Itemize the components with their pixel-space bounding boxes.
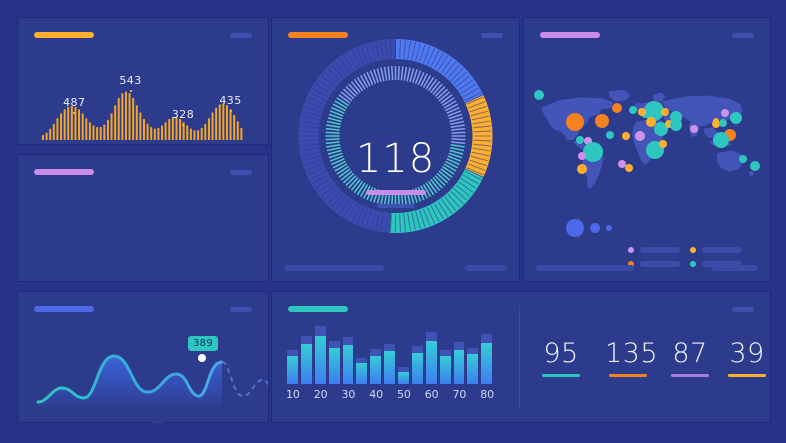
map-bubble[interactable]	[721, 109, 729, 117]
bar-column[interactable]	[301, 336, 312, 384]
bar-segment-top	[454, 342, 465, 350]
bar-axis-tick-label: 30	[341, 388, 355, 401]
map-bubble[interactable]	[595, 114, 609, 128]
map-legend-item[interactable]	[628, 247, 680, 253]
map-legend-color-dot	[690, 261, 696, 267]
panel-wave-histogram[interactable]: 487543328435	[18, 18, 268, 144]
kpi-item[interactable]: 87	[667, 340, 713, 377]
bar-segment-main	[301, 344, 312, 384]
map-bubble[interactable]	[612, 103, 622, 113]
kpi-value: 95	[538, 340, 584, 367]
bar-segment-main	[454, 350, 465, 384]
bar-segment-main	[356, 363, 367, 384]
trend-tooltip: 389	[188, 336, 218, 351]
panel-footer-bar-right-map	[712, 265, 758, 271]
bar-segment-main	[343, 345, 354, 384]
bar-column[interactable]	[481, 334, 492, 384]
bar-column[interactable]	[412, 346, 423, 384]
dashboard-root: 487543328435 389 118	[0, 0, 786, 443]
bar-segment-top	[481, 334, 492, 343]
map-bubble[interactable]	[635, 131, 645, 141]
wave-label-marker	[230, 110, 232, 112]
bar-axis-tick-label: 20	[314, 388, 328, 401]
kpi-item[interactable]: 39	[724, 340, 770, 377]
bar-segment-top	[370, 349, 381, 356]
bar-column[interactable]	[315, 326, 326, 384]
stacked-bar-axis: 1020304050607080	[286, 388, 508, 404]
bar-segment-main	[384, 351, 395, 384]
kpi-value: 87	[667, 340, 713, 367]
bar-column[interactable]	[287, 350, 298, 384]
bar-axis-tick-label: 50	[397, 388, 411, 401]
map-legend-label-placeholder	[640, 247, 680, 253]
bar-column[interactable]	[370, 349, 381, 384]
panel-title-accent-bottom	[288, 306, 348, 312]
bar-segment-main	[398, 372, 409, 384]
bar-segment-top	[412, 346, 423, 353]
panel-pie-charts[interactable]	[18, 155, 268, 281]
wave-label-marker	[130, 90, 132, 92]
trend-area-fill	[38, 356, 222, 410]
map-legend-color-dot	[628, 247, 634, 253]
panel-title-accent-map	[540, 32, 600, 38]
bar-column[interactable]	[356, 358, 367, 384]
bar-segment-top	[426, 332, 437, 341]
map-size-legend-medium	[590, 223, 600, 233]
bar-segment-main	[426, 341, 437, 384]
map-legend-label-placeholder	[640, 261, 680, 267]
panel-divider	[519, 306, 520, 408]
panel-footer-bar-right-donut	[465, 265, 507, 271]
panel-footer-bar-left-donut	[284, 265, 384, 271]
panel-menu-chip-bottom[interactable]	[732, 307, 754, 312]
kpi-underline	[542, 374, 580, 377]
wave-label-marker	[182, 124, 184, 126]
bar-segment-main	[329, 348, 340, 384]
map-legend-label-placeholder	[702, 247, 742, 253]
bar-segment-top	[329, 341, 340, 348]
bar-segment-main	[412, 353, 423, 384]
panel-title-accent-wave	[34, 32, 94, 38]
map-bubble[interactable]	[606, 131, 614, 139]
bar-column[interactable]	[343, 337, 354, 384]
kpi-value: 39	[724, 340, 770, 367]
bar-segment-top	[467, 348, 478, 355]
panel-bars-and-kpis[interactable]: 1020304050607080 951358739	[272, 292, 770, 422]
bar-axis-tick-label: 60	[425, 388, 439, 401]
bar-segment-top	[384, 344, 395, 351]
map-legend-color-dot	[690, 247, 696, 253]
bar-segment-top	[287, 350, 298, 357]
map-bubble[interactable]	[670, 119, 682, 131]
bar-column[interactable]	[426, 332, 437, 384]
map-legend-item[interactable]	[690, 247, 742, 253]
panel-title-accent-line	[34, 306, 94, 312]
panel-footer-bar-left-map	[536, 265, 634, 271]
wave-value-labels: 487543328435	[18, 52, 268, 144]
panel-area-trend[interactable]: 389	[18, 292, 268, 422]
map-bubble[interactable]	[750, 161, 760, 171]
bar-column[interactable]	[440, 350, 451, 384]
map-legend-item[interactable]	[628, 261, 680, 267]
bar-segment-main	[440, 356, 451, 384]
panel-menu-chip-pies[interactable]	[230, 170, 252, 175]
panel-donut-gauge[interactable]: 118	[272, 18, 519, 281]
kpi-underline	[728, 374, 766, 377]
wave-value-label: 543	[119, 74, 141, 87]
bar-axis-tick-label: 80	[480, 388, 494, 401]
bar-segment-top	[343, 337, 354, 345]
bar-segment-top	[315, 326, 326, 336]
wave-value-label: 435	[219, 94, 241, 107]
kpi-underline	[671, 374, 709, 377]
bar-segment-main	[287, 356, 298, 384]
map-bubble[interactable]	[713, 132, 729, 148]
donut-center-value: 118	[272, 136, 519, 182]
kpi-underline	[609, 374, 647, 377]
bar-column[interactable]	[329, 341, 340, 384]
wave-label-marker	[73, 112, 75, 114]
bar-axis-tick-label: 70	[452, 388, 466, 401]
bar-column[interactable]	[398, 367, 409, 384]
map-size-legend-large	[566, 219, 584, 237]
bar-segment-main	[481, 343, 492, 384]
bar-segment-main	[370, 356, 381, 384]
bar-column[interactable]	[454, 342, 465, 384]
map-bubble[interactable]	[576, 136, 584, 144]
kpi-value: 135	[605, 340, 651, 367]
donut-center-accent-secondary	[377, 204, 415, 208]
bar-segment-main	[467, 354, 478, 384]
wave-value-label: 328	[172, 108, 194, 121]
wave-value-label: 487	[63, 96, 85, 109]
map-bubble[interactable]	[622, 132, 630, 140]
map-bubble[interactable]	[577, 164, 587, 174]
bar-segment-main	[315, 336, 326, 384]
bar-axis-tick-label: 10	[286, 388, 300, 401]
bar-axis-tick-label: 40	[369, 388, 383, 401]
area-trend-svg	[18, 322, 268, 422]
panel-menu-chip-wave[interactable]	[230, 33, 252, 38]
kpi-item[interactable]: 95	[538, 340, 584, 377]
map-bubble[interactable]	[566, 113, 584, 131]
kpi-item[interactable]: 135	[605, 340, 651, 377]
bar-segment-top	[440, 350, 451, 357]
bar-segment-top	[301, 336, 312, 344]
panel-menu-chip-line[interactable]	[230, 307, 252, 312]
stacked-bar-chart	[286, 322, 508, 384]
panel-title-accent-pies	[34, 169, 94, 175]
trend-forecast-line	[222, 362, 268, 402]
map-size-legend-small	[606, 225, 612, 231]
trend-data-point[interactable]	[198, 354, 206, 362]
bar-column[interactable]	[467, 348, 478, 384]
panel-menu-chip-map[interactable]	[732, 33, 754, 38]
panel-world-bubble-map[interactable]	[524, 18, 770, 281]
bar-column[interactable]	[384, 344, 395, 384]
map-bubble[interactable]	[578, 152, 586, 160]
wave-histogram-plot: 487543328435	[18, 52, 268, 144]
donut-center-accent-primary	[366, 190, 426, 195]
map-bubble[interactable]	[629, 106, 637, 114]
